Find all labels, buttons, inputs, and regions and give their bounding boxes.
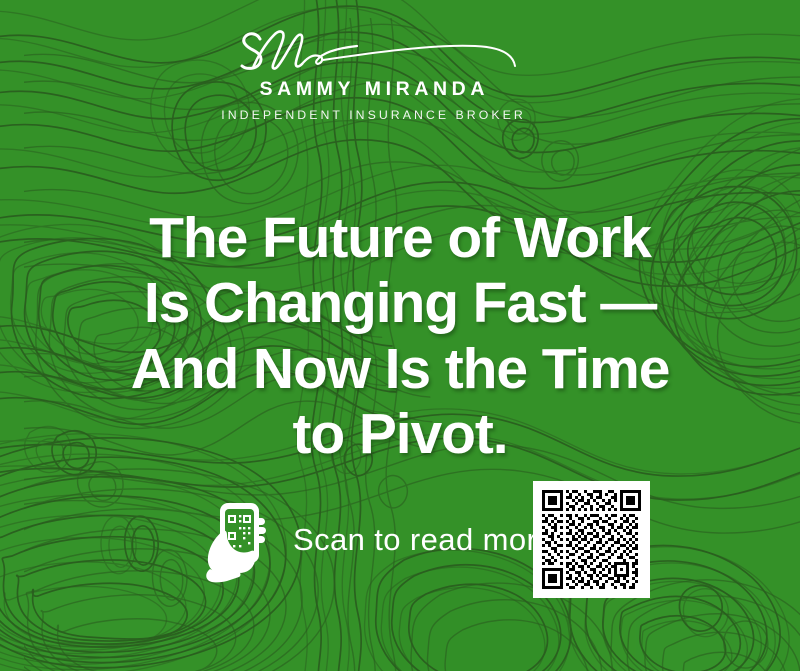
- hand-holding-phone-qr-icon: [205, 501, 267, 583]
- headline-line-4: to Pivot.: [40, 402, 760, 467]
- page-title: The Future of Work Is Changing Fast — An…: [0, 206, 800, 467]
- brand-name: SAMMY MIRANDA: [255, 80, 489, 100]
- brand-tagline: INDEPENDENT INSURANCE BROKER: [218, 109, 526, 121]
- headline-line-3: And Now Is the Time: [40, 337, 760, 402]
- social-poster: SAMMY MIRANDA INDEPENDENT INSURANCE BROK…: [0, 0, 800, 671]
- headline-line-1: The Future of Work: [40, 206, 760, 271]
- headline-line-2: Is Changing Fast —: [40, 271, 760, 336]
- sm-signature-swoosh-icon: [227, 22, 517, 74]
- scan-cta-label: Scan to read more..: [293, 522, 573, 558]
- brand-logo: SAMMY MIRANDA INDEPENDENT INSURANCE BROK…: [0, 22, 800, 121]
- qr-code[interactable]: [533, 481, 650, 598]
